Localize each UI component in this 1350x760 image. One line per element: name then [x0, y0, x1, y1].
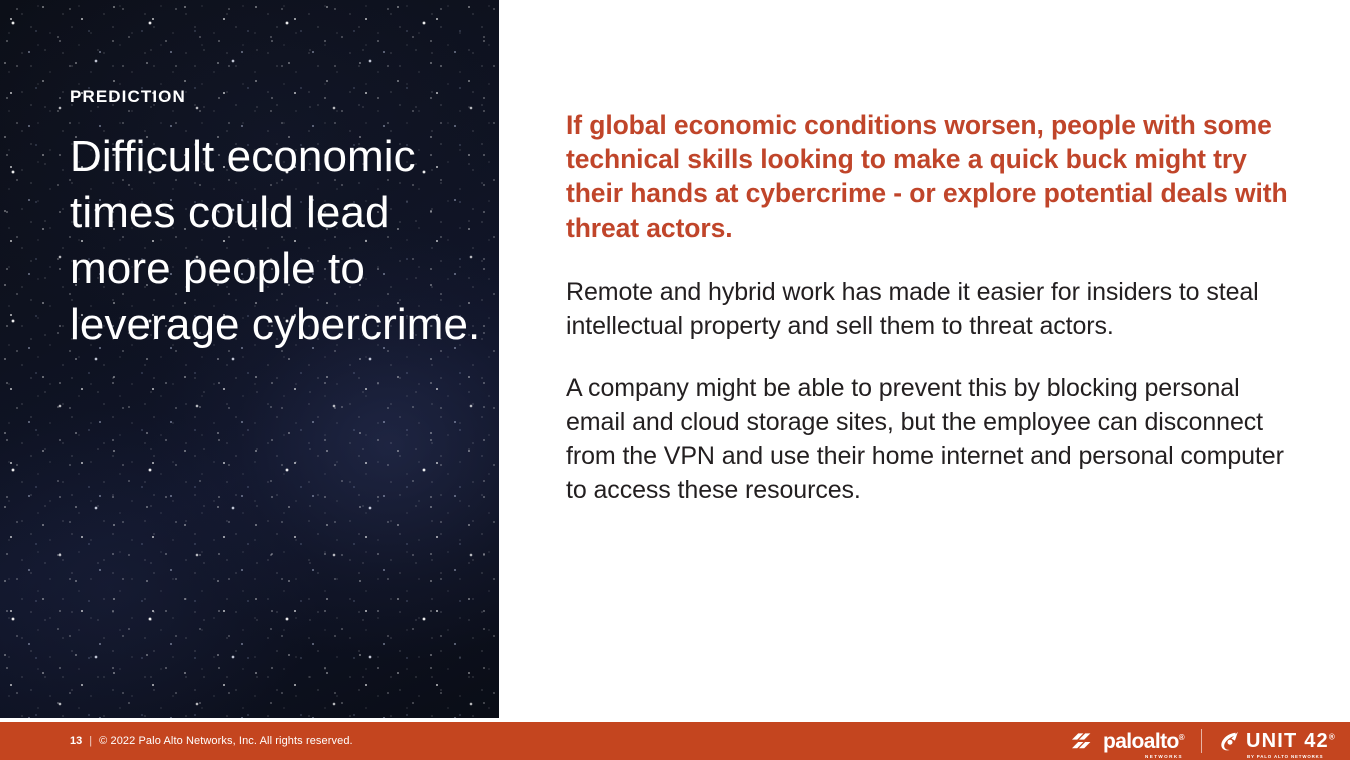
- footer-left-group: 13 | © 2022 Palo Alto Networks, Inc. All…: [0, 735, 353, 747]
- footer-bar: 13 | © 2022 Palo Alto Networks, Inc. All…: [0, 722, 1350, 760]
- body-paragraph-1: Remote and hybrid work has made it easie…: [566, 275, 1288, 343]
- footer-logo-group: paloalto® NETWORKS UNIT 42® BY PALO ALTO…: [1072, 729, 1350, 753]
- unit42-tagline: BY PALO ALTO NETWORKS: [1247, 755, 1323, 759]
- page-number: 13: [70, 735, 82, 747]
- paloalto-slashes-icon: [1072, 731, 1096, 751]
- paloalto-logo: paloalto® NETWORKS: [1072, 731, 1184, 752]
- slide-canvas: PREDICTION Difficult economic times coul…: [0, 0, 1350, 760]
- paloalto-tagline: NETWORKS: [1145, 755, 1183, 760]
- unit42-swoosh-icon: [1219, 731, 1240, 752]
- page-title: Difficult economic times could lead more…: [70, 129, 490, 353]
- eyebrow-label: PREDICTION: [70, 88, 490, 105]
- unit42-trademark-icon: ®: [1329, 732, 1336, 741]
- footer-separator: |: [89, 735, 92, 747]
- body-paragraph-2: A company might be able to prevent this …: [566, 371, 1288, 507]
- unit42-wordmark-group: UNIT 42® BY PALO ALTO NETWORKS: [1246, 731, 1336, 751]
- paloalto-wordmark-group: paloalto® NETWORKS: [1103, 731, 1184, 752]
- unit42-wordmark: UNIT 42: [1246, 730, 1329, 752]
- copyright-text: © 2022 Palo Alto Networks, Inc. All righ…: [99, 735, 353, 747]
- lede-paragraph: If global economic conditions worsen, pe…: [566, 108, 1288, 245]
- unit42-logo: UNIT 42® BY PALO ALTO NETWORKS: [1219, 731, 1336, 752]
- logo-divider: [1201, 729, 1202, 753]
- paloalto-trademark-icon: ®: [1179, 733, 1184, 742]
- left-starfield-panel: PREDICTION Difficult economic times coul…: [0, 0, 499, 718]
- paloalto-wordmark: paloalto: [1103, 730, 1179, 753]
- right-text-block: If global economic conditions worsen, pe…: [566, 108, 1288, 507]
- left-text-block: PREDICTION Difficult economic times coul…: [70, 88, 490, 353]
